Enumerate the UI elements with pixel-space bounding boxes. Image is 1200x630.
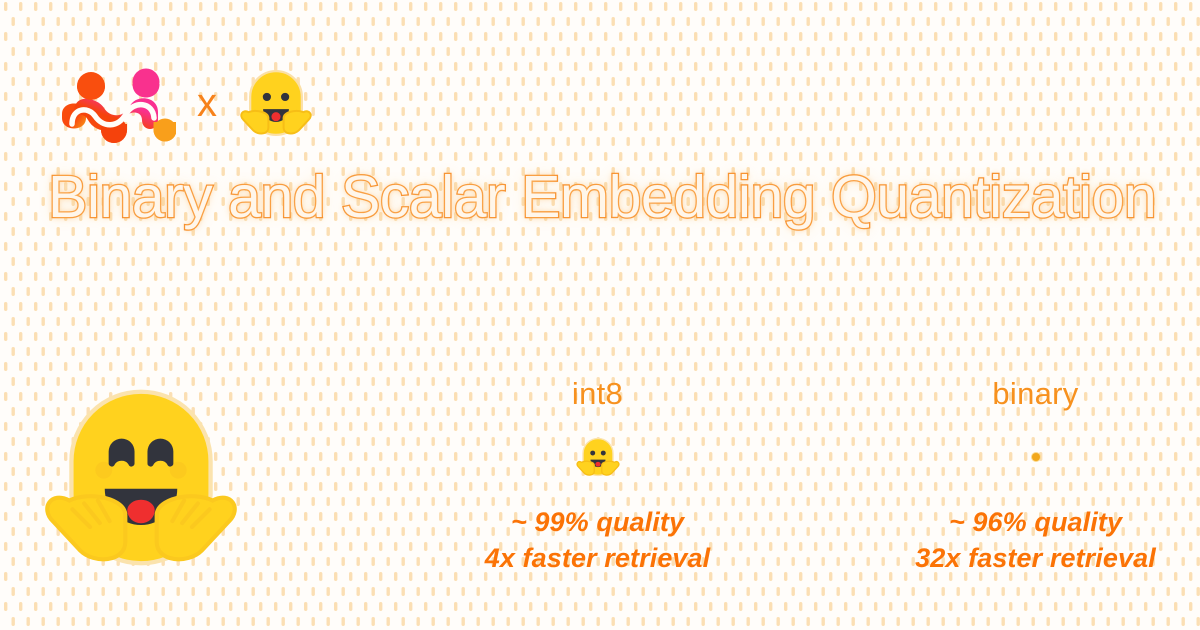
pipeline-stage-binary: binary ~ 96% quality 32x faster retrieva…: [888, 378, 1183, 577]
stage-metric-int8-quality: ~ 99% quality: [455, 505, 740, 541]
binary-dot-icon: [1032, 453, 1040, 461]
page-title: Binary and Scalar Embedding Quantization: [48, 168, 1156, 227]
sentence-transformers-logo: [58, 62, 176, 144]
stage-metric-int8-speed: 4x faster retrieval: [455, 541, 740, 577]
stage-label-int8: int8: [455, 378, 740, 409]
stage-metric-binary-speed: 32x faster retrieval: [888, 541, 1183, 577]
stage-metric-binary-quality: ~ 96% quality: [888, 505, 1183, 541]
stage-glyph-int8: [455, 409, 740, 505]
stage-label-binary: binary: [888, 378, 1183, 409]
stage-glyph-binary: [888, 409, 1183, 505]
pipeline-stage-source: [18, 380, 263, 576]
hugging-face-logo: [238, 65, 314, 141]
quantization-pipeline: int8 ~ 99% quality 4x faster retrieval: [0, 378, 1200, 603]
brand-row: x: [58, 55, 314, 150]
hugging-face-emoji-large: [43, 380, 239, 576]
infographic-canvas: x Binary and Scalar Embedding Quantizati…: [0, 0, 1200, 630]
cross-separator: x: [176, 83, 238, 123]
pipeline-stage-int8: int8 ~ 99% quality 4x faster retrieval: [455, 378, 740, 577]
hugging-face-emoji-small: [576, 435, 620, 479]
